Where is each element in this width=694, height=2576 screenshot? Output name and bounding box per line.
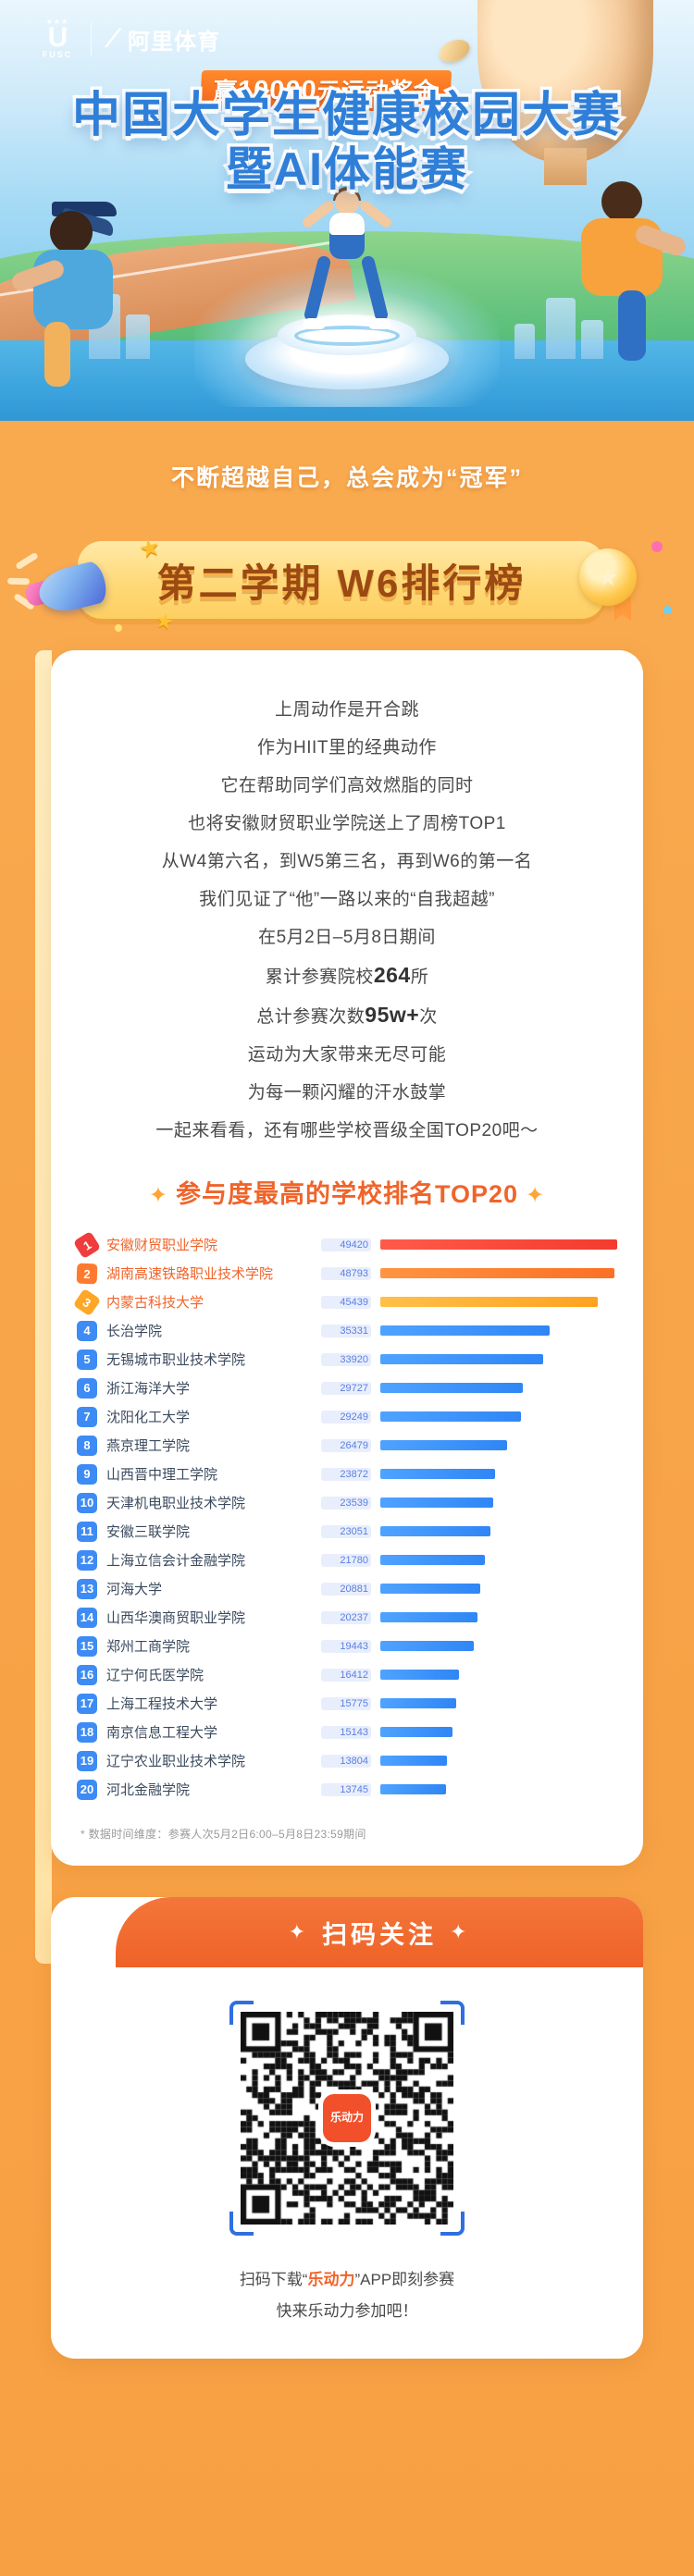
rank-bar-track [380,1469,617,1479]
rank-value: 20881 [321,1583,371,1596]
rank-bar [380,1584,480,1594]
rank-school-name: 燕京理工学院 [106,1436,312,1455]
rank-school-name: 河北金融学院 [106,1780,312,1799]
logo-row: ★★★ U FUSC ⁄ 阿里体育 [37,18,220,59]
rank-badge: 4 [77,1321,97,1341]
rank-badge: 19 [77,1751,97,1771]
rank-bar-track [380,1325,617,1336]
rank-row: 20河北金融学院13745 [77,1775,617,1804]
rank-row: 17上海工程技术大学15775 [77,1689,617,1718]
rank-row: 16辽宁何氏医学院16412 [77,1660,617,1689]
week-ribbon: ★ ★ 第二学期 W6排行榜 [0,521,694,650]
rank-school-name: 无锡城市职业技术学院 [106,1350,312,1369]
alisports-mark-icon: ⁄ [105,25,120,53]
rank-value: 13804 [321,1755,371,1768]
main-content-card: 上周动作是开合跳 作为HIIT里的经典动作 它在帮助同学们高效燃脂的同时 也将安… [51,650,643,1866]
qr-center-logo: 乐动力 [323,2094,371,2142]
rank-row: 10天津机电职业技术学院23539 [77,1488,617,1517]
partner-logo: ⁄ 阿里体育 [105,23,220,55]
rank-bar [380,1756,447,1766]
rank-bar-track [380,1440,617,1450]
stat-times-prefix: 总计参赛次数 [256,1007,365,1027]
rank-school-name: 上海工程技术大学 [106,1694,312,1713]
rank-school-name: 内蒙古科技大学 [106,1292,312,1312]
rank-bar [380,1469,495,1479]
rank-badge: 10 [77,1493,97,1513]
rank-bar-track [380,1727,617,1737]
rank-bar-track [380,1756,617,1766]
stat-times: 总计参赛次数95w+次 [77,996,617,1036]
rank-bar-track [380,1784,617,1794]
rank-badge: 15 [77,1636,97,1657]
poster-page: ★★★ U FUSC ⁄ 阿里体育 赢10000元运动奖金 中国大学生健康校园大… [0,0,694,2576]
rank-value: 29249 [321,1411,371,1424]
rank-bar [380,1268,614,1278]
rank-row: 1安徽财贸职业学院49420 [77,1230,617,1259]
qr-center-logo-label: 乐动力 [330,2112,364,2124]
ranking-list: 1安徽财贸职业学院494202湖南高速铁路职业技术学院487933内蒙古科技大学… [77,1230,617,1804]
rank-bar-track [380,1612,617,1622]
rank-bar-track [380,1584,617,1594]
rank-badge: 13 [77,1579,97,1599]
rank-bar [380,1670,459,1680]
story-line: 运动为大家带来无尽可能 [77,1036,617,1074]
stat-schools-suffix: 所 [411,968,429,987]
rank-badge: 1 [73,1230,101,1258]
hero-title-line-1: 中国大学生健康校园大赛 [0,89,694,143]
rank-row: 11安徽三联学院23051 [77,1517,617,1546]
rank-bar-track [380,1641,617,1651]
rank-bar [380,1784,446,1794]
rank-row: 18南京信息工程大学15143 [77,1718,617,1746]
rank-value: 16412 [321,1669,371,1682]
rank-value: 48793 [321,1267,371,1280]
rank-value: 45439 [321,1296,371,1309]
rank-value: 35331 [321,1325,371,1337]
rank-badge: 6 [77,1378,97,1399]
qr-corner-icon [440,2001,465,2025]
rank-bar [380,1498,493,1508]
rank-value: 26479 [321,1439,371,1452]
rank-bar-track [380,1526,617,1536]
rank-bar-track [380,1354,617,1364]
rank-school-name: 山西晋中理工学院 [106,1464,312,1484]
rank-row: 5无锡城市职业技术学院33920 [77,1345,617,1374]
qr-body: 乐动力 扫码下载“乐动力”APP即刻参赛 快来乐动力参加吧！ [51,1967,643,2327]
fisu-logo-text: FUSC [37,50,78,59]
rank-bar [380,1555,485,1565]
athlete-center-illustration [294,181,400,339]
rank-bar [380,1698,456,1708]
rank-badge: 17 [77,1694,97,1714]
fisu-logo: ★★★ U FUSC [37,18,78,59]
rank-value: 29727 [321,1382,371,1395]
rank-badge: 9 [77,1464,97,1485]
rank-badge: 11 [77,1522,97,1542]
rank-bar-track [380,1268,617,1278]
rank-badge: 14 [77,1608,97,1628]
rank-bar-track [380,1698,617,1708]
hero-title: 中国大学生健康校园大赛 暨AI体能赛 [0,89,694,196]
story-line: 也将安徽财贸职业学院送上了周榜TOP1 [77,805,617,843]
rank-bar [380,1612,477,1622]
rank-bar [380,1641,474,1651]
slogan-text: 不断超越自己，总会成为“冠军” [0,421,694,493]
rank-school-name: 安徽三联学院 [106,1522,312,1541]
rank-badge: 5 [77,1350,97,1370]
rank-bar-track [380,1383,617,1393]
sparkle-icon: ✦ [526,1183,545,1208]
stat-times-value: 95w+ [365,1003,419,1027]
rank-badge: 3 [73,1288,102,1316]
partner-logo-label: 阿里体育 [128,23,220,55]
story-text-block: 上周动作是开合跳 作为HIIT里的经典动作 它在帮助同学们高效燃脂的同时 也将安… [77,691,617,1150]
rank-school-name: 辽宁何氏医学院 [106,1665,312,1684]
rank-school-name: 浙江海洋大学 [106,1378,312,1398]
rank-badge: 2 [77,1263,98,1284]
rank-row: 13河海大学20881 [77,1574,617,1603]
rank-value: 13745 [321,1783,371,1796]
rank-badge: 18 [77,1722,97,1743]
rank-bar-track [380,1498,617,1508]
rank-bar [380,1526,490,1536]
qr-corner-icon [229,2001,254,2025]
rank-badge: 20 [77,1780,97,1800]
rank-school-name: 上海立信会计金融学院 [106,1550,312,1570]
rank-school-name: 南京信息工程大学 [106,1722,312,1742]
ribbon-title: 第二学期 W6排行榜 [78,552,605,609]
athlete-right-illustration [553,181,683,385]
story-line: 从W4第六名，到W5第三名，再到W6的第一名 [77,843,617,881]
rank-school-name: 辽宁农业职业技术学院 [106,1751,312,1770]
rank-value: 23051 [321,1525,371,1538]
rank-value: 15775 [321,1697,371,1710]
rank-school-name: 郑州工商学院 [106,1636,312,1656]
card-side-accent [35,650,52,1964]
story-line: 它在帮助同学们高效燃脂的同时 [77,767,617,805]
rank-bar [380,1727,452,1737]
rank-bar [380,1440,507,1450]
qr-caption-prefix: 扫码下载“ [240,2271,308,2288]
qr-heading-label: 扫码关注 [322,1915,437,1951]
rank-bar-track [380,1297,617,1307]
rank-bar [380,1354,543,1364]
stat-schools-value: 264 [374,963,411,987]
rank-row: 15郑州工商学院19443 [77,1632,617,1660]
building-icon [514,324,535,359]
qr-card-header: ✦ 扫码关注 ✦ [116,1897,643,1967]
sparkle-icon: ✦ [289,1920,309,1944]
fisu-u-mark: U [37,26,78,50]
star-icon: ★ [154,608,177,635]
rank-bar [380,1297,598,1307]
rank-school-name: 河海大学 [106,1579,312,1598]
ranking-title: ✦参与度最高的学校排名TOP20✦ [77,1174,617,1210]
rank-row: 19辽宁农业职业技术学院13804 [77,1746,617,1775]
stat-times-suffix: 次 [419,1007,438,1027]
hero-banner: ★★★ U FUSC ⁄ 阿里体育 赢10000元运动奖金 中国大学生健康校园大… [0,0,694,421]
qr-corner-icon [440,2212,465,2236]
rank-value: 49420 [321,1239,371,1251]
rank-badge: 7 [77,1407,97,1427]
story-line: 在5月2日–5月8日期间 [77,918,617,956]
stat-schools-prefix: 累计参赛院校 [266,968,374,987]
rank-badge: 16 [77,1665,97,1685]
rank-school-name: 安徽财贸职业学院 [106,1235,312,1254]
rank-school-name: 沈阳化工大学 [106,1407,312,1426]
rank-bar [380,1383,523,1393]
hero-title-line-2: 暨AI体能赛 [0,143,694,196]
qr-caption-suffix: ”APP即刻参赛 [354,2271,454,2288]
story-line: 我们见证了“他”一路以来的“自我超越” [77,881,617,918]
rank-value: 23872 [321,1468,371,1481]
rank-value: 20237 [321,1611,371,1624]
rank-bar-track [380,1670,617,1680]
rank-badge: 8 [77,1436,97,1456]
rank-row: 3内蒙古科技大学45439 [77,1288,617,1316]
confetti-dot-icon [115,624,122,632]
rank-value: 19443 [321,1640,371,1653]
rank-bar [380,1239,617,1250]
athlete-left-illustration [17,211,137,387]
sparkle-icon: ✦ [450,1920,470,1944]
logo-divider [91,22,92,55]
qr-caption: 扫码下载“乐动力”APP即刻参赛 快来乐动力参加吧！ [51,2264,643,2327]
rank-row: 4长治学院35331 [77,1316,617,1345]
rank-school-name: 湖南高速铁路职业技术学院 [106,1263,312,1283]
qr-corner-icon [229,2212,254,2236]
rank-row: 14山西华澳商贸职业学院20237 [77,1603,617,1632]
rank-value: 15143 [321,1726,371,1739]
rank-bar-track [380,1411,617,1422]
rank-value: 23539 [321,1497,371,1510]
qr-caption-line-1: 扫码下载“乐动力”APP即刻参赛 [51,2264,643,2296]
rank-school-name: 长治学院 [106,1321,312,1340]
ranking-footnote: * 数据时间维度：参赛人次5月2日6:00–5月8日23:59期间 [77,1826,617,1842]
stat-schools: 累计参赛院校264所 [77,956,617,996]
rank-bar [380,1325,550,1336]
rank-row: 8燕京理工学院26479 [77,1431,617,1460]
rank-bar-track [380,1239,617,1250]
rank-value: 33920 [321,1353,371,1366]
qr-frame[interactable]: 乐动力 [229,2001,465,2236]
rank-bar-track [380,1555,617,1565]
story-line: 为每一颗闪耀的汗水鼓掌 [77,1074,617,1112]
sparkle-icon: ✦ [149,1183,168,1208]
qr-card: ✦ 扫码关注 ✦ 乐动力 扫码下载“乐动力”APP即刻参赛 快来乐动力参加吧！ [51,1897,643,2359]
rank-bar [380,1411,521,1422]
rank-row: 2湖南高速铁路职业技术学院48793 [77,1259,617,1288]
qr-caption-brand: 乐动力 [307,2271,354,2288]
rank-row: 7沈阳化工大学29249 [77,1402,617,1431]
confetti-dot-icon [663,606,672,614]
rank-value: 21780 [321,1554,371,1567]
qr-caption-line-2: 快来乐动力参加吧！ [51,2296,643,2327]
story-line: 上周动作是开合跳 [77,691,617,729]
confetti-dot-icon [651,541,663,552]
rank-row: 9山西晋中理工学院23872 [77,1460,617,1488]
rank-row: 6浙江海洋大学29727 [77,1374,617,1402]
bottom-spacer [0,2359,694,2401]
rank-school-name: 山西华澳商贸职业学院 [106,1608,312,1627]
ranking-title-label: 参与度最高的学校排名TOP20 [176,1180,518,1208]
rank-badge: 12 [77,1550,97,1571]
rank-school-name: 天津机电职业技术学院 [106,1493,312,1512]
story-line: 一起来看看，还有哪些学校晋级全国TOP20吧～ [77,1112,617,1150]
story-line: 作为HIIT里的经典动作 [77,729,617,767]
rank-row: 12上海立信会计金融学院21780 [77,1546,617,1574]
